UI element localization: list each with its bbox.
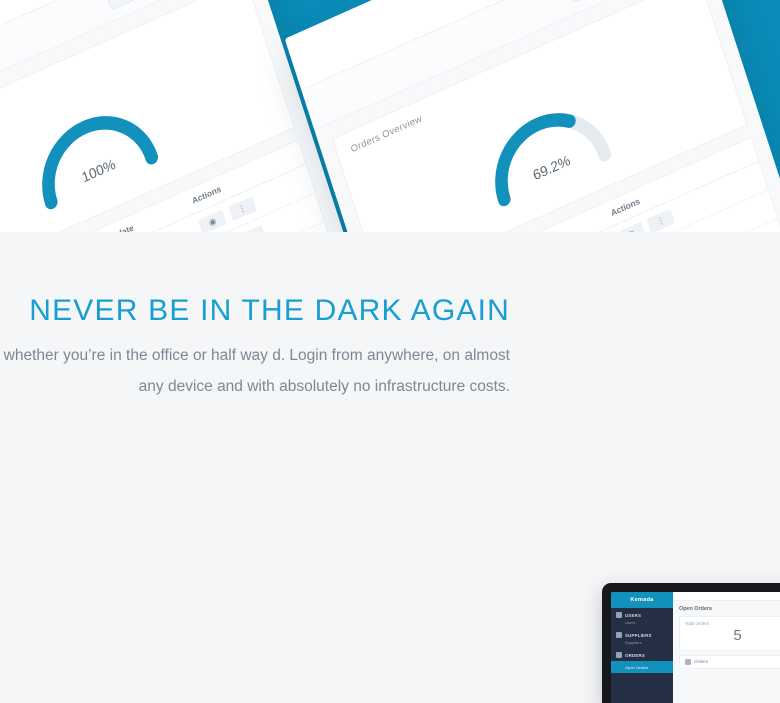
page-body-copy: s available wherever you are; whether yo… <box>0 340 510 402</box>
hero-section: Filter + Add Supplier Verified Suppliers <box>0 0 780 232</box>
tablet-brand: Kemada <box>611 592 673 608</box>
tablet-sidebar: Kemada USERS Users SUPPLIERS Suppliers <box>611 592 673 703</box>
suppliers-icon <box>616 632 622 638</box>
orders-icon <box>616 652 622 658</box>
info-icon[interactable]: ⋮ <box>228 196 256 221</box>
sidebar-item-users[interactable]: USERS Users <box>611 608 673 628</box>
tilted-dashboard-stage: Filter + Add Supplier Verified Suppliers <box>0 0 780 232</box>
sidebar-subitem-label[interactable]: Suppliers <box>616 640 668 645</box>
sidebar-subitem-label: Open Orders <box>616 665 668 670</box>
orders-dashboard-panel[interactable]: Filter + Add Order Orders Overview <box>285 0 780 232</box>
view-icon[interactable]: ◉ <box>617 222 645 232</box>
tablet-screen: Kemada USERS Users SUPPLIERS Suppliers <box>611 592 780 703</box>
lower-section: NEVER BE IN THE DARK AGAIN s available w… <box>0 232 780 433</box>
view-icon[interactable]: ◉ <box>198 210 226 232</box>
orders-row[interactable]: Orders <box>679 655 780 669</box>
sidebar-item-label: USERS <box>625 613 641 618</box>
sidebar-item-orders[interactable]: ORDERS <box>611 648 673 661</box>
total-orders-card: Total Orders 5 <box>679 616 780 651</box>
tablet-top-strip <box>673 592 780 601</box>
sidebar-item-label: SUPPLIERS <box>625 633 652 638</box>
users-icon <box>616 612 622 618</box>
sidebar-item-label: ORDERS <box>625 653 645 658</box>
sidebar-subitem-label[interactable]: Users <box>616 620 668 625</box>
tablet-heading: Open Orders <box>679 606 780 612</box>
page-headline: NEVER BE IN THE DARK AGAIN <box>0 294 780 328</box>
tablet-mockup: Kemada USERS Users SUPPLIERS Suppliers <box>602 583 780 703</box>
grid-icon <box>685 659 691 665</box>
total-orders-value: 5 <box>685 626 780 646</box>
info-icon[interactable]: ⋮ <box>237 225 265 232</box>
sidebar-item-open-orders[interactable]: Open Orders <box>611 661 673 673</box>
orders-row-label: Orders <box>694 659 708 664</box>
info-icon[interactable]: ⋮ <box>647 209 675 232</box>
tablet-main: Open Orders Total Orders 5 Orders <box>673 592 780 703</box>
sidebar-item-suppliers[interactable]: SUPPLIERS Suppliers <box>611 628 673 648</box>
